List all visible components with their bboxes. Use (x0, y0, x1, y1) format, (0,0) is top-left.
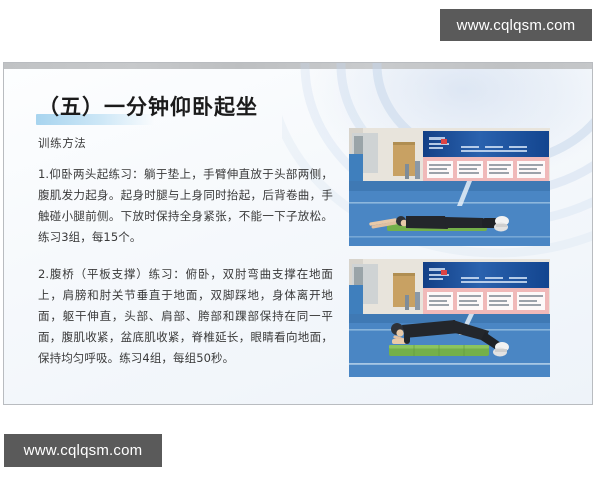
photo-plank-hold (349, 259, 550, 377)
section-subheading: 训练方法 (38, 135, 333, 151)
watermark-top-text: www.cqlqsm.com (457, 17, 576, 34)
paragraph-situp: 1.仰卧两头起练习：躺于垫上，手臂伸直放于头部两侧，腹肌发力起身。起身时腿与上身… (38, 164, 333, 248)
paragraph-plank: 2.腹桥（平板支撑）练习：俯卧，双肘弯曲支撑在地面上，肩膀和肘关节垂直于地面，双… (38, 264, 333, 369)
photo-supine-lying (349, 128, 550, 246)
page-title: （五）一分钟仰卧起坐 (38, 91, 258, 123)
watermark-top: www.cqlqsm.com (440, 9, 592, 41)
content-text-column: 训练方法 1.仰卧两头起练习：躺于垫上，手臂伸直放于头部两侧，腹肌发力起身。起身… (38, 135, 333, 385)
watermark-bottom-text: www.cqlqsm.com (24, 442, 143, 459)
slide-top-band (3, 62, 593, 69)
photo-plank-hold-graphic (349, 259, 550, 377)
slide-canvas: （五）一分钟仰卧起坐 训练方法 1.仰卧两头起练习：躺于垫上，手臂伸直放于头部两… (3, 62, 593, 405)
slide-title-block: （五）一分钟仰卧起坐 (38, 91, 258, 123)
photo-supine-lying-graphic (349, 128, 550, 246)
watermark-bottom: www.cqlqsm.com (4, 434, 162, 467)
